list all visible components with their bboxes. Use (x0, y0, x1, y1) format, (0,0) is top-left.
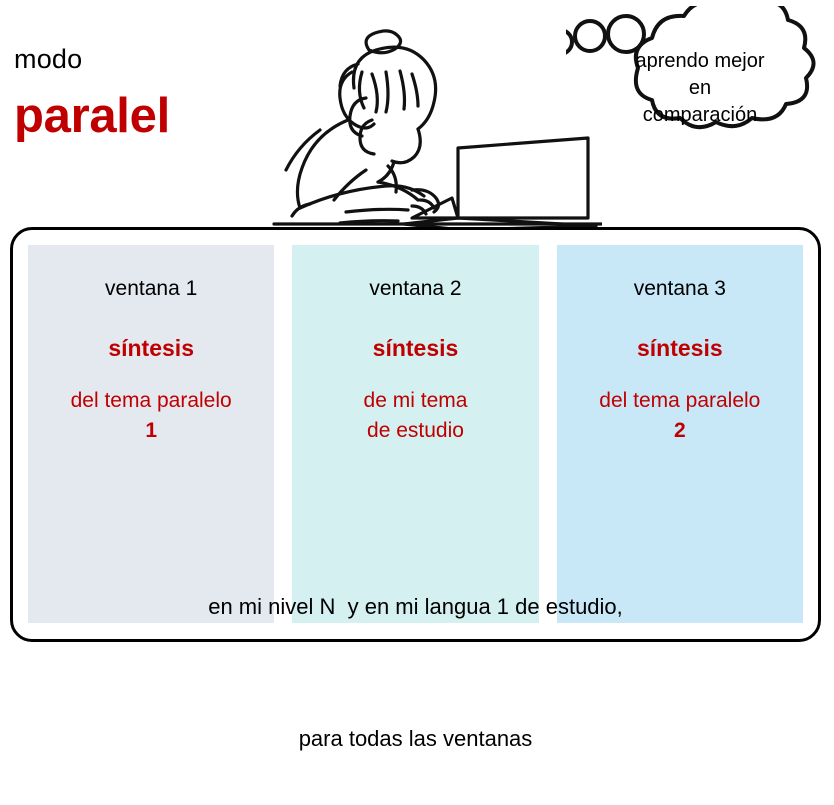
thought-dot-3 (566, 30, 572, 54)
panel-footer-note-line-2: para todas las ventanas (28, 717, 803, 761)
window-column-3-detail: del tema paralelo 2 (557, 386, 803, 446)
window-column-1-detail-line-2: 1 (28, 416, 274, 446)
window-column-3-detail-line-2: 2 (557, 416, 803, 446)
window-column-3-detail-line-1: del tema paralelo (599, 389, 760, 412)
window-column-1-synthesis: síntesis (28, 337, 274, 360)
mode-value-paralel: paralel (14, 92, 170, 141)
thought-bubble: aprendo mejor en comparación (566, 6, 834, 178)
window-column-1-detail: del tema paralelo 1 (28, 386, 274, 446)
window-column-2-detail: de mi tema de estudio (292, 386, 538, 446)
window-column-2-detail-line-1: de mi tema (364, 389, 468, 412)
person-studying-at-laptop-illustration (262, 2, 602, 230)
window-column-2-detail-line-2: de estudio (292, 416, 538, 446)
panel-footer-note: en mi nivel N y en mi langua 1 de estudi… (28, 497, 803, 805)
window-column-1-detail-line-1: del tema paralelo (71, 389, 232, 412)
window-column-3-title: ventana 3 (557, 278, 803, 299)
header-region: modo paralel (0, 0, 834, 227)
window-column-2-synthesis: síntesis (292, 337, 538, 360)
thought-dot-4 (575, 21, 605, 51)
window-column-3-synthesis: síntesis (557, 337, 803, 360)
panel-footer-note-line-1: en mi nivel N y en mi langua 1 de estudi… (28, 585, 803, 629)
window-column-2-title: ventana 2 (292, 278, 538, 299)
mode-label: modo (14, 46, 82, 73)
window-column-1-title: ventana 1 (28, 278, 274, 299)
